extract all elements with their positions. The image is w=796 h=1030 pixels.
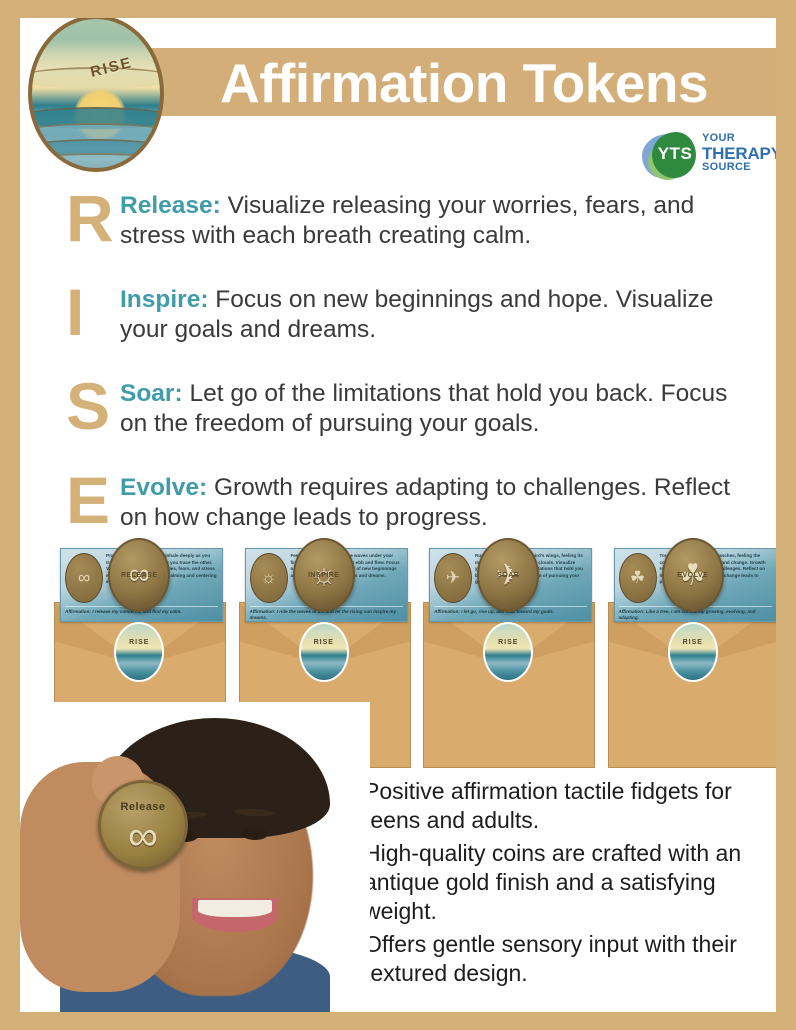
logo-line-3: SOURCE (702, 162, 776, 174)
rise-letter-i: I (66, 279, 122, 345)
yts-logo: YTS YOUR THERAPY SOURCE (640, 130, 776, 182)
held-coin-release: Release ∞ (98, 780, 188, 870)
sticker-evolve: RISE (668, 622, 718, 682)
emblem-wave-5 (28, 153, 164, 172)
product-item-soar: ✈ Run your finger along the bird's wings… (423, 530, 594, 770)
sticker-inspire: RISE (299, 622, 349, 682)
logo-wordmark: YOUR THERAPY SOURCE (702, 133, 776, 174)
tree-icon: ☘ (620, 554, 656, 602)
coin-label-evolve: EVOLVE (664, 572, 722, 579)
coin-inspire: ☼ INSPIRE (293, 538, 355, 612)
coin-label-soar: SOAR (479, 572, 537, 579)
infinity-icon: ∞ (101, 815, 185, 857)
card-coin-soar: ✈ (434, 553, 472, 603)
feature-bullet-list: Positive affirmation tactile fidgets for… (338, 777, 758, 992)
sticker-label-soar: RISE (485, 639, 531, 646)
photo-eye-right (242, 828, 268, 840)
logo-mark-text: YTS (654, 144, 696, 164)
bullet-item-3: Offers gentle sensory input with their t… (338, 930, 758, 988)
bullet-item-2: High-quality coins are crafted with an a… (338, 839, 758, 926)
coin-release: ∞ RELEASE (108, 538, 170, 612)
rise-letter-s: S (66, 373, 122, 439)
rise-keyword-evolve: Evolve: (120, 474, 207, 501)
bullet-item-1: Positive affirmation tactile fidgets for… (338, 777, 758, 835)
sticker-label-evolve: RISE (670, 639, 716, 646)
sticker-label-inspire: RISE (301, 639, 347, 646)
logo-line-1: YOUR (702, 133, 776, 145)
photo-teeth (198, 900, 272, 917)
card-coin-inspire: ☼ (250, 553, 288, 603)
page-title: Affirmation Tokens (220, 46, 776, 120)
rise-text-inspire: Focus on new beginnings and hope. Visual… (120, 286, 713, 343)
rise-text-evolve: Growth requires adapting to challenges. … (120, 474, 730, 531)
coin-evolve: ☘ EVOLVE (662, 538, 724, 612)
coin-label-inspire: INSPIRE (295, 572, 353, 579)
lifestyle-photo: Release ∞ (20, 702, 370, 1012)
sticker-label-release: RISE (116, 639, 162, 646)
coin-label-release: RELEASE (110, 572, 168, 579)
rise-acronym-list: R Release: Visualize releasing your worr… (20, 183, 776, 549)
rise-keyword-inspire: Inspire: (120, 286, 209, 313)
rise-letter-r: R (66, 185, 122, 251)
card-coin-release: ∞ (65, 553, 103, 603)
rise-body-soar: Soar: Let go of the limitations that hol… (120, 379, 746, 439)
rise-body-release: Release: Visualize releasing your worrie… (120, 191, 746, 251)
sun-waves-icon: ☼ (251, 554, 287, 602)
logo-line-2: THERAPY (702, 145, 776, 163)
coin-soar: ✈ SOAR (477, 538, 539, 612)
card-coin-evolve: ☘ (619, 553, 657, 603)
poster-header: RISE Affirmation Tokens YTS YOUR THERAPY… (20, 18, 776, 183)
bird-clouds-icon: ✈ (435, 554, 471, 602)
poster-page: RISE Affirmation Tokens YTS YOUR THERAPY… (0, 0, 796, 1030)
rise-row-soar: S Soar: Let go of the limitations that h… (66, 379, 746, 455)
sticker-soar: RISE (483, 622, 533, 682)
poster-sheet: RISE Affirmation Tokens YTS YOUR THERAPY… (20, 18, 776, 1012)
rise-letter-e: E (66, 467, 122, 533)
rise-keyword-soar: Soar: (120, 380, 183, 407)
bullet-ul: Positive affirmation tactile fidgets for… (338, 777, 758, 988)
rise-text-soar: Let go of the limitations that hold you … (120, 380, 727, 437)
rise-row-inspire: I Inspire: Focus on new beginnings and h… (66, 285, 746, 361)
rise-body-evolve: Evolve: Growth requires adapting to chal… (120, 473, 746, 533)
rise-emblem-icon: RISE (28, 18, 164, 172)
product-item-evolve: ☘ Touch the tree roots and branches, fee… (608, 530, 777, 770)
rise-body-inspire: Inspire: Focus on new beginnings and hop… (120, 285, 746, 345)
rise-row-release: R Release: Visualize releasing your worr… (66, 191, 746, 267)
infinity-icon: ∞ (66, 554, 102, 602)
sticker-release: RISE (114, 622, 164, 682)
rise-keyword-release: Release: (120, 192, 221, 219)
